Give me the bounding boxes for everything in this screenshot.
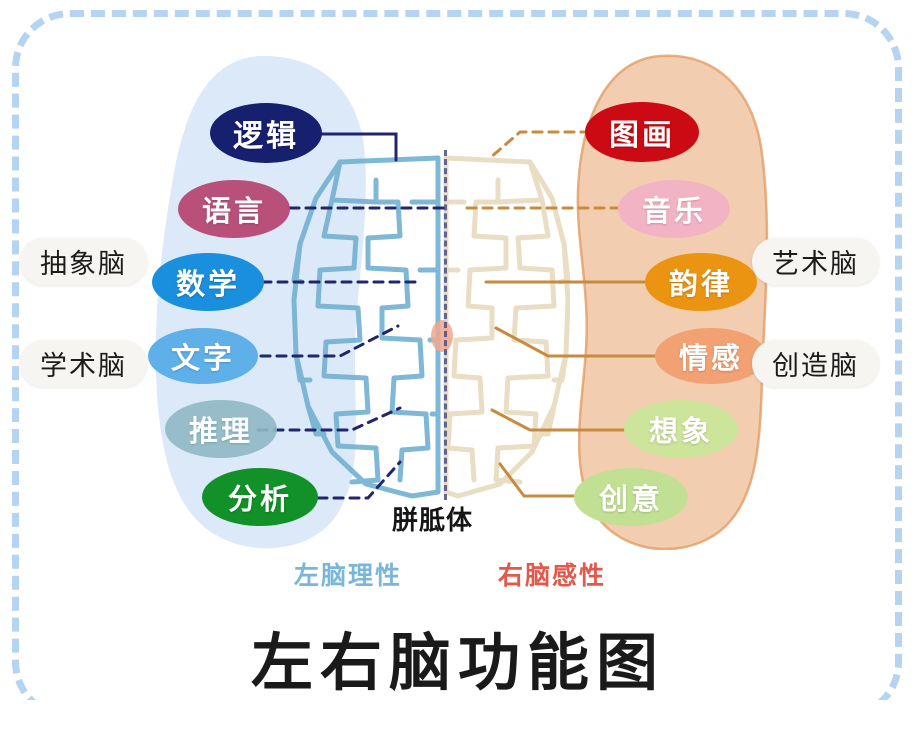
- function-pill-left-3[interactable]: 文字: [148, 328, 258, 384]
- function-label: 创意: [599, 476, 663, 518]
- category-capsule-academic-brain[interactable]: 学术脑: [20, 340, 147, 387]
- corpus-callosum-text: 胼胝体: [392, 505, 473, 535]
- corpus-callosum-label: 胼胝体: [392, 500, 473, 537]
- function-pill-right-0[interactable]: 图画: [585, 102, 699, 162]
- brain-illustration: [280, 140, 570, 505]
- function-label: 音乐: [642, 188, 706, 230]
- function-pill-left-5[interactable]: 分析: [202, 468, 318, 526]
- function-label: 分析: [228, 476, 292, 518]
- category-label: 抽象脑: [40, 242, 127, 281]
- function-pill-left-1[interactable]: 语言: [178, 180, 290, 238]
- category-label: 学术脑: [40, 344, 127, 383]
- function-pill-right-1[interactable]: 音乐: [618, 180, 730, 238]
- function-label: 图画: [609, 110, 675, 154]
- function-label: 语言: [202, 188, 266, 230]
- function-pill-left-0[interactable]: 逻辑: [210, 103, 322, 163]
- category-capsule-abstract-brain[interactable]: 抽象脑: [20, 238, 147, 285]
- page-title: 左右脑功能图: [0, 612, 916, 702]
- midline-dashed-line: [444, 150, 447, 500]
- category-label: 艺术脑: [772, 242, 859, 281]
- brain-function-diagram: 逻辑 语言 数学 文字 推理 分析 图画 音乐 韵律 情感 想象 创意 抽象脑 …: [0, 0, 916, 731]
- caption-left-brain: 左脑理性: [294, 556, 402, 592]
- function-label: 数学: [176, 261, 240, 303]
- function-label: 韵律: [669, 261, 733, 303]
- category-capsule-creative-brain[interactable]: 创造脑: [752, 340, 879, 387]
- category-capsule-art-brain[interactable]: 艺术脑: [752, 238, 879, 285]
- title-text: 左右脑功能图: [251, 629, 665, 698]
- function-label: 逻辑: [233, 111, 299, 155]
- function-pill-right-3[interactable]: 情感: [655, 328, 767, 384]
- function-pill-right-4[interactable]: 想象: [624, 400, 738, 458]
- caption-right-brain: 右脑感性: [498, 556, 606, 592]
- caption-right-text: 右脑感性: [498, 562, 606, 590]
- function-label: 情感: [679, 335, 743, 377]
- function-pill-right-2[interactable]: 韵律: [645, 253, 757, 311]
- function-label: 想象: [649, 408, 713, 450]
- function-pill-left-4[interactable]: 推理: [165, 400, 277, 458]
- category-label: 创造脑: [772, 344, 859, 383]
- function-pill-left-2[interactable]: 数学: [152, 253, 264, 311]
- function-label: 文字: [171, 335, 235, 377]
- caption-left-text: 左脑理性: [294, 562, 402, 590]
- function-label: 推理: [189, 408, 253, 450]
- function-pill-right-5[interactable]: 创意: [574, 468, 688, 526]
- frame-bottom-mask: [0, 700, 916, 731]
